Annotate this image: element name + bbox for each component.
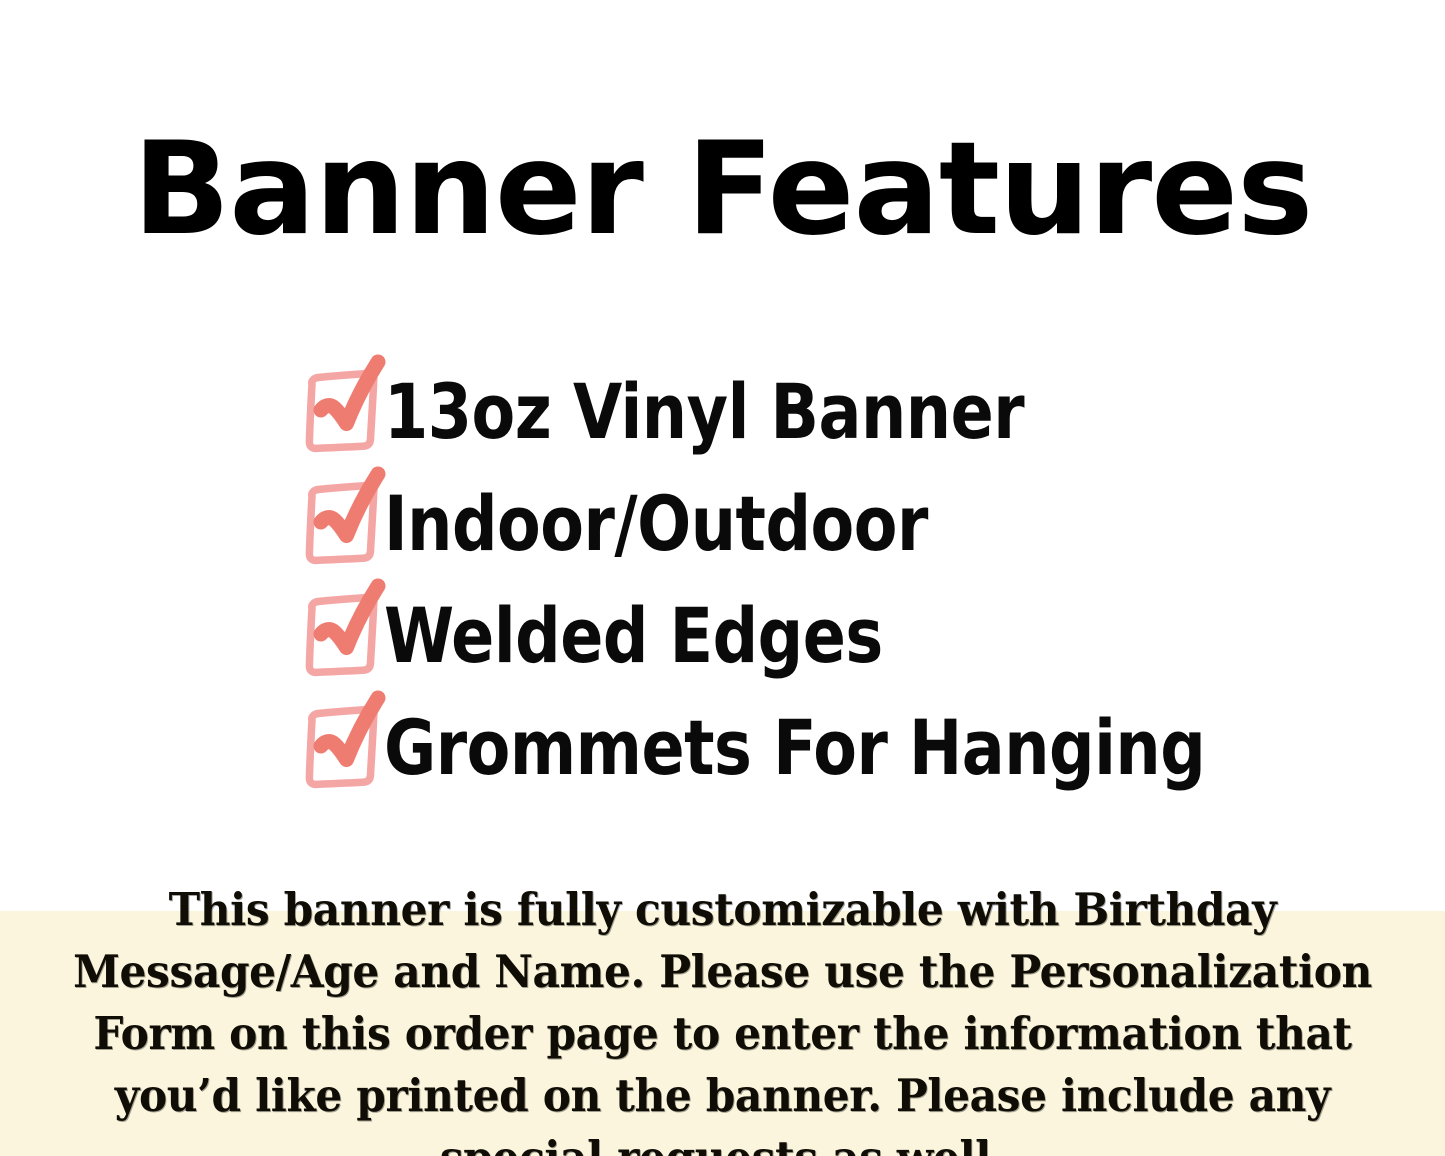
list-item: Grommets For Hanging: [300, 692, 1440, 804]
list-item: Welded Edges: [300, 580, 1440, 692]
feature-label: 13oz Vinyl Banner: [384, 374, 1024, 450]
hand-drawn-checkbox-checked-icon: [298, 360, 390, 464]
list-item: 13oz Vinyl Banner: [300, 356, 1440, 468]
hand-drawn-checkbox-checked-icon: [298, 472, 390, 576]
hand-drawn-checkbox-checked-icon: [298, 696, 390, 800]
feature-label: Grommets For Hanging: [384, 710, 1205, 786]
hand-drawn-checkbox-checked-icon: [298, 584, 390, 688]
feature-label: Indoor/Outdoor: [384, 486, 928, 562]
feature-label: Welded Edges: [384, 598, 883, 674]
personalization-note-banner: This banner is fully customizable with B…: [0, 911, 1445, 1156]
list-item: Indoor/Outdoor: [300, 468, 1440, 580]
personalization-note-text: This banner is fully customizable with B…: [43, 879, 1401, 1156]
banner-features-graphic: Banner Features 13oz Vinyl Banner Indoor…: [0, 0, 1445, 1156]
page-title: Banner Features: [0, 126, 1445, 254]
feature-list: 13oz Vinyl Banner Indoor/Outdoor Welded …: [300, 356, 1440, 804]
